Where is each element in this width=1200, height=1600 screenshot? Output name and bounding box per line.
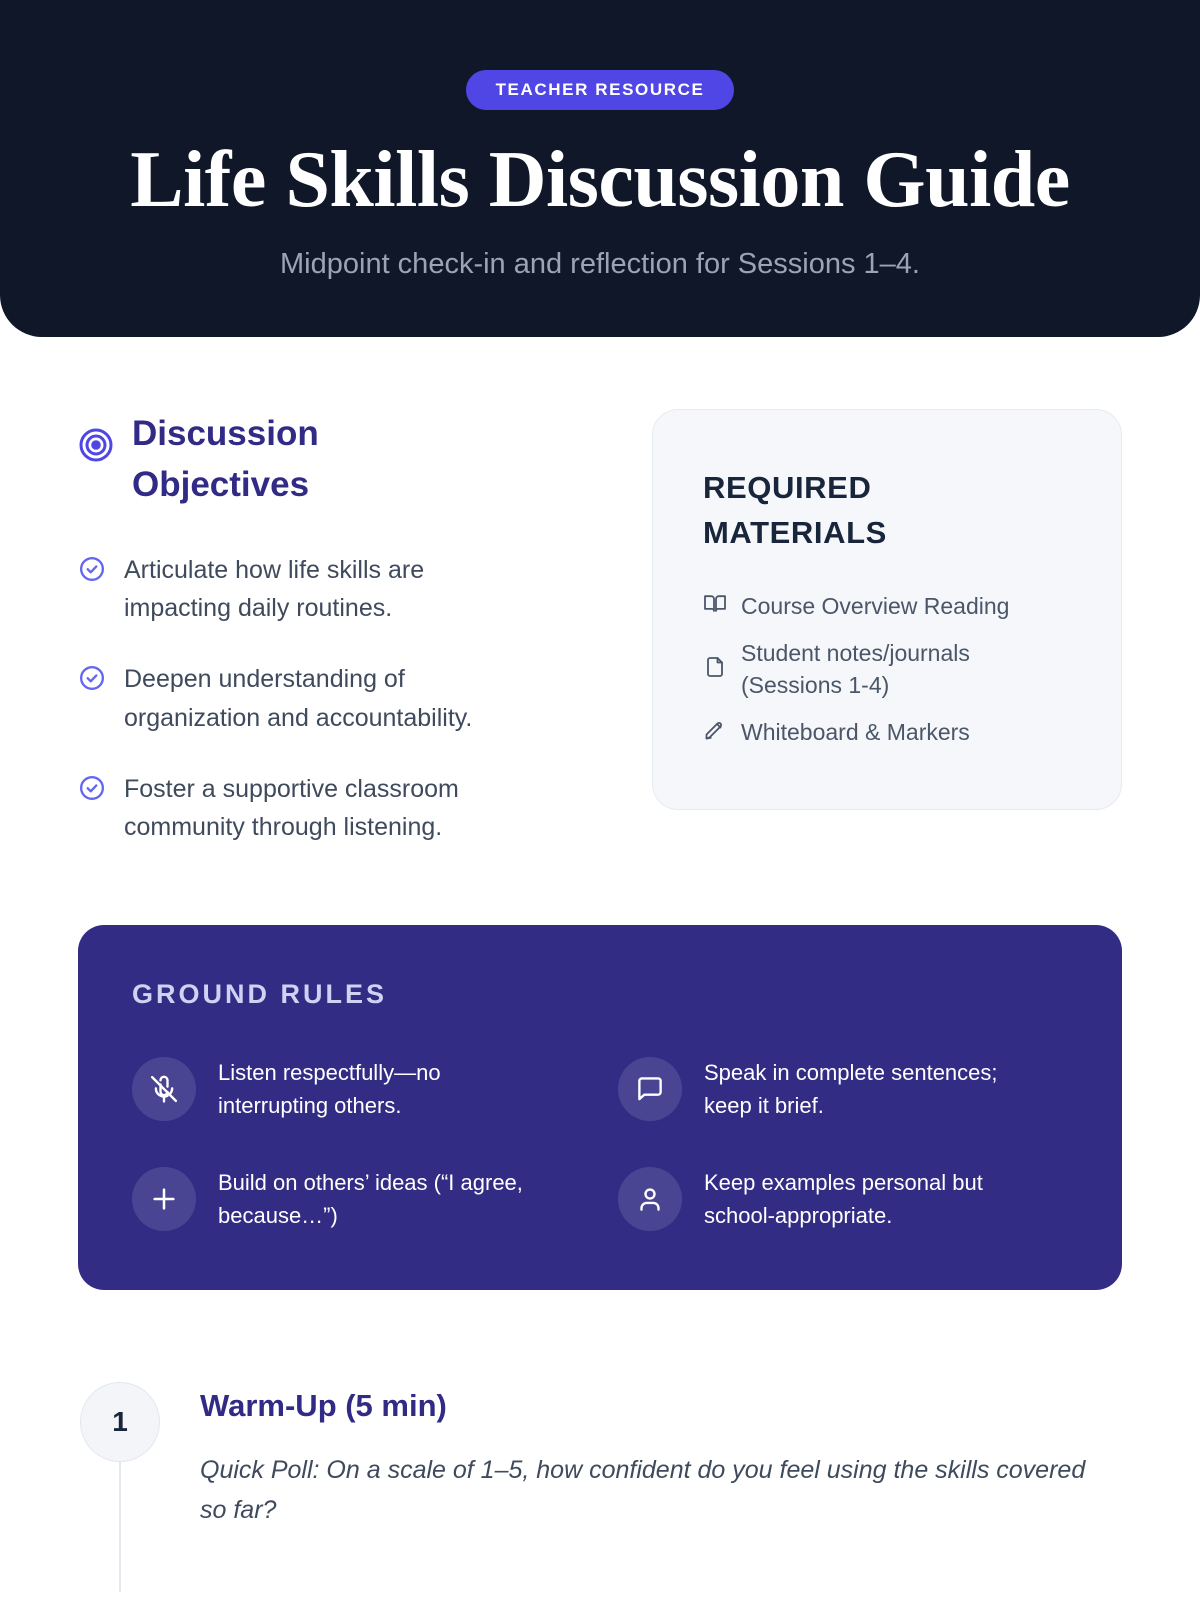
circle-check-icon [78, 664, 106, 697]
discussion-objectives-section: Discussion Objectives Articulate how lif… [78, 409, 598, 847]
timeline-step-body: Warm-Up (5 min) Quick Poll: On a scale o… [200, 1382, 1105, 1592]
list-item: Articulate how life skills are impacting… [78, 551, 598, 629]
material-text: Course Overview Reading [741, 590, 1009, 623]
list-item: Speak in complete sentences; keep it bri… [618, 1056, 1068, 1122]
objectives-list: Articulate how life skills are impacting… [78, 551, 598, 848]
file-icon [703, 655, 727, 684]
list-item: Keep examples personal but school-approp… [618, 1166, 1068, 1232]
agenda-timeline: 1 Warm-Up (5 min) Quick Poll: On a scale… [78, 1382, 1122, 1592]
timeline-step-title: Warm-Up (5 min) [200, 1388, 1105, 1424]
page-title: Life Skills Discussion Guide [40, 138, 1160, 222]
page-content: Discussion Objectives Articulate how lif… [0, 409, 1200, 1592]
material-text: Whiteboard & Markers [741, 716, 970, 749]
target-icon [78, 427, 114, 468]
circle-check-icon [78, 774, 106, 807]
timeline-step-description: Quick Poll: On a scale of 1–5, how confi… [200, 1450, 1105, 1530]
list-item: Whiteboard & Markers [703, 716, 1071, 749]
objectives-title: Discussion Objectives [132, 409, 422, 511]
rule-text: Speak in complete sentences; keep it bri… [704, 1056, 1034, 1122]
materials-list: Course Overview Reading Student notes/jo… [703, 590, 1071, 749]
list-item: Course Overview Reading [703, 590, 1071, 623]
rule-text: Listen respectfully—no interrupting othe… [218, 1056, 548, 1122]
list-item: Student notes/journals (Sessions 1-4) [703, 637, 1071, 702]
ground-rules-grid: Listen respectfully—no interrupting othe… [132, 1056, 1068, 1232]
objective-text: Foster a supportive classroom community … [124, 770, 524, 848]
timeline-connector [119, 1462, 121, 1592]
user-icon [618, 1167, 682, 1231]
circle-check-icon [78, 555, 106, 588]
timeline-step-number: 1 [80, 1382, 160, 1462]
material-text: Student notes/journals (Sessions 1-4) [741, 637, 1071, 702]
required-materials-card: REQUIRED MATERIALS Course Overview Readi… [652, 409, 1122, 810]
ground-rules-section: GROUND RULES Listen respectfully—no inte… [78, 925, 1122, 1290]
top-section: Discussion Objectives Articulate how lif… [78, 409, 1122, 847]
list-item: Foster a supportive classroom community … [78, 770, 598, 848]
list-item: Build on others’ ideas (“I agree, becaus… [132, 1166, 582, 1232]
page-subtitle: Midpoint check-in and reflection for Ses… [40, 248, 1160, 281]
objective-text: Articulate how life skills are impacting… [124, 551, 524, 629]
highlighter-icon [703, 718, 727, 747]
plus-icon [132, 1167, 196, 1231]
timeline-rail: 1 [78, 1382, 162, 1592]
list-item: Listen respectfully—no interrupting othe… [132, 1056, 582, 1122]
ground-rules-title: GROUND RULES [132, 979, 1068, 1010]
objectives-header: Discussion Objectives [78, 409, 598, 511]
materials-title: REQUIRED MATERIALS [703, 466, 973, 556]
book-open-icon [703, 592, 727, 621]
list-item: Deepen understanding of organization and… [78, 660, 598, 738]
rule-text: Build on others’ ideas (“I agree, becaus… [218, 1166, 548, 1232]
message-square-icon [618, 1057, 682, 1121]
mic-off-icon [132, 1057, 196, 1121]
rule-text: Keep examples personal but school-approp… [704, 1166, 1034, 1232]
page-header: TEACHER RESOURCE Life Skills Discussion … [0, 0, 1200, 337]
objective-text: Deepen understanding of organization and… [124, 660, 524, 738]
status-badge: TEACHER RESOURCE [466, 70, 735, 110]
